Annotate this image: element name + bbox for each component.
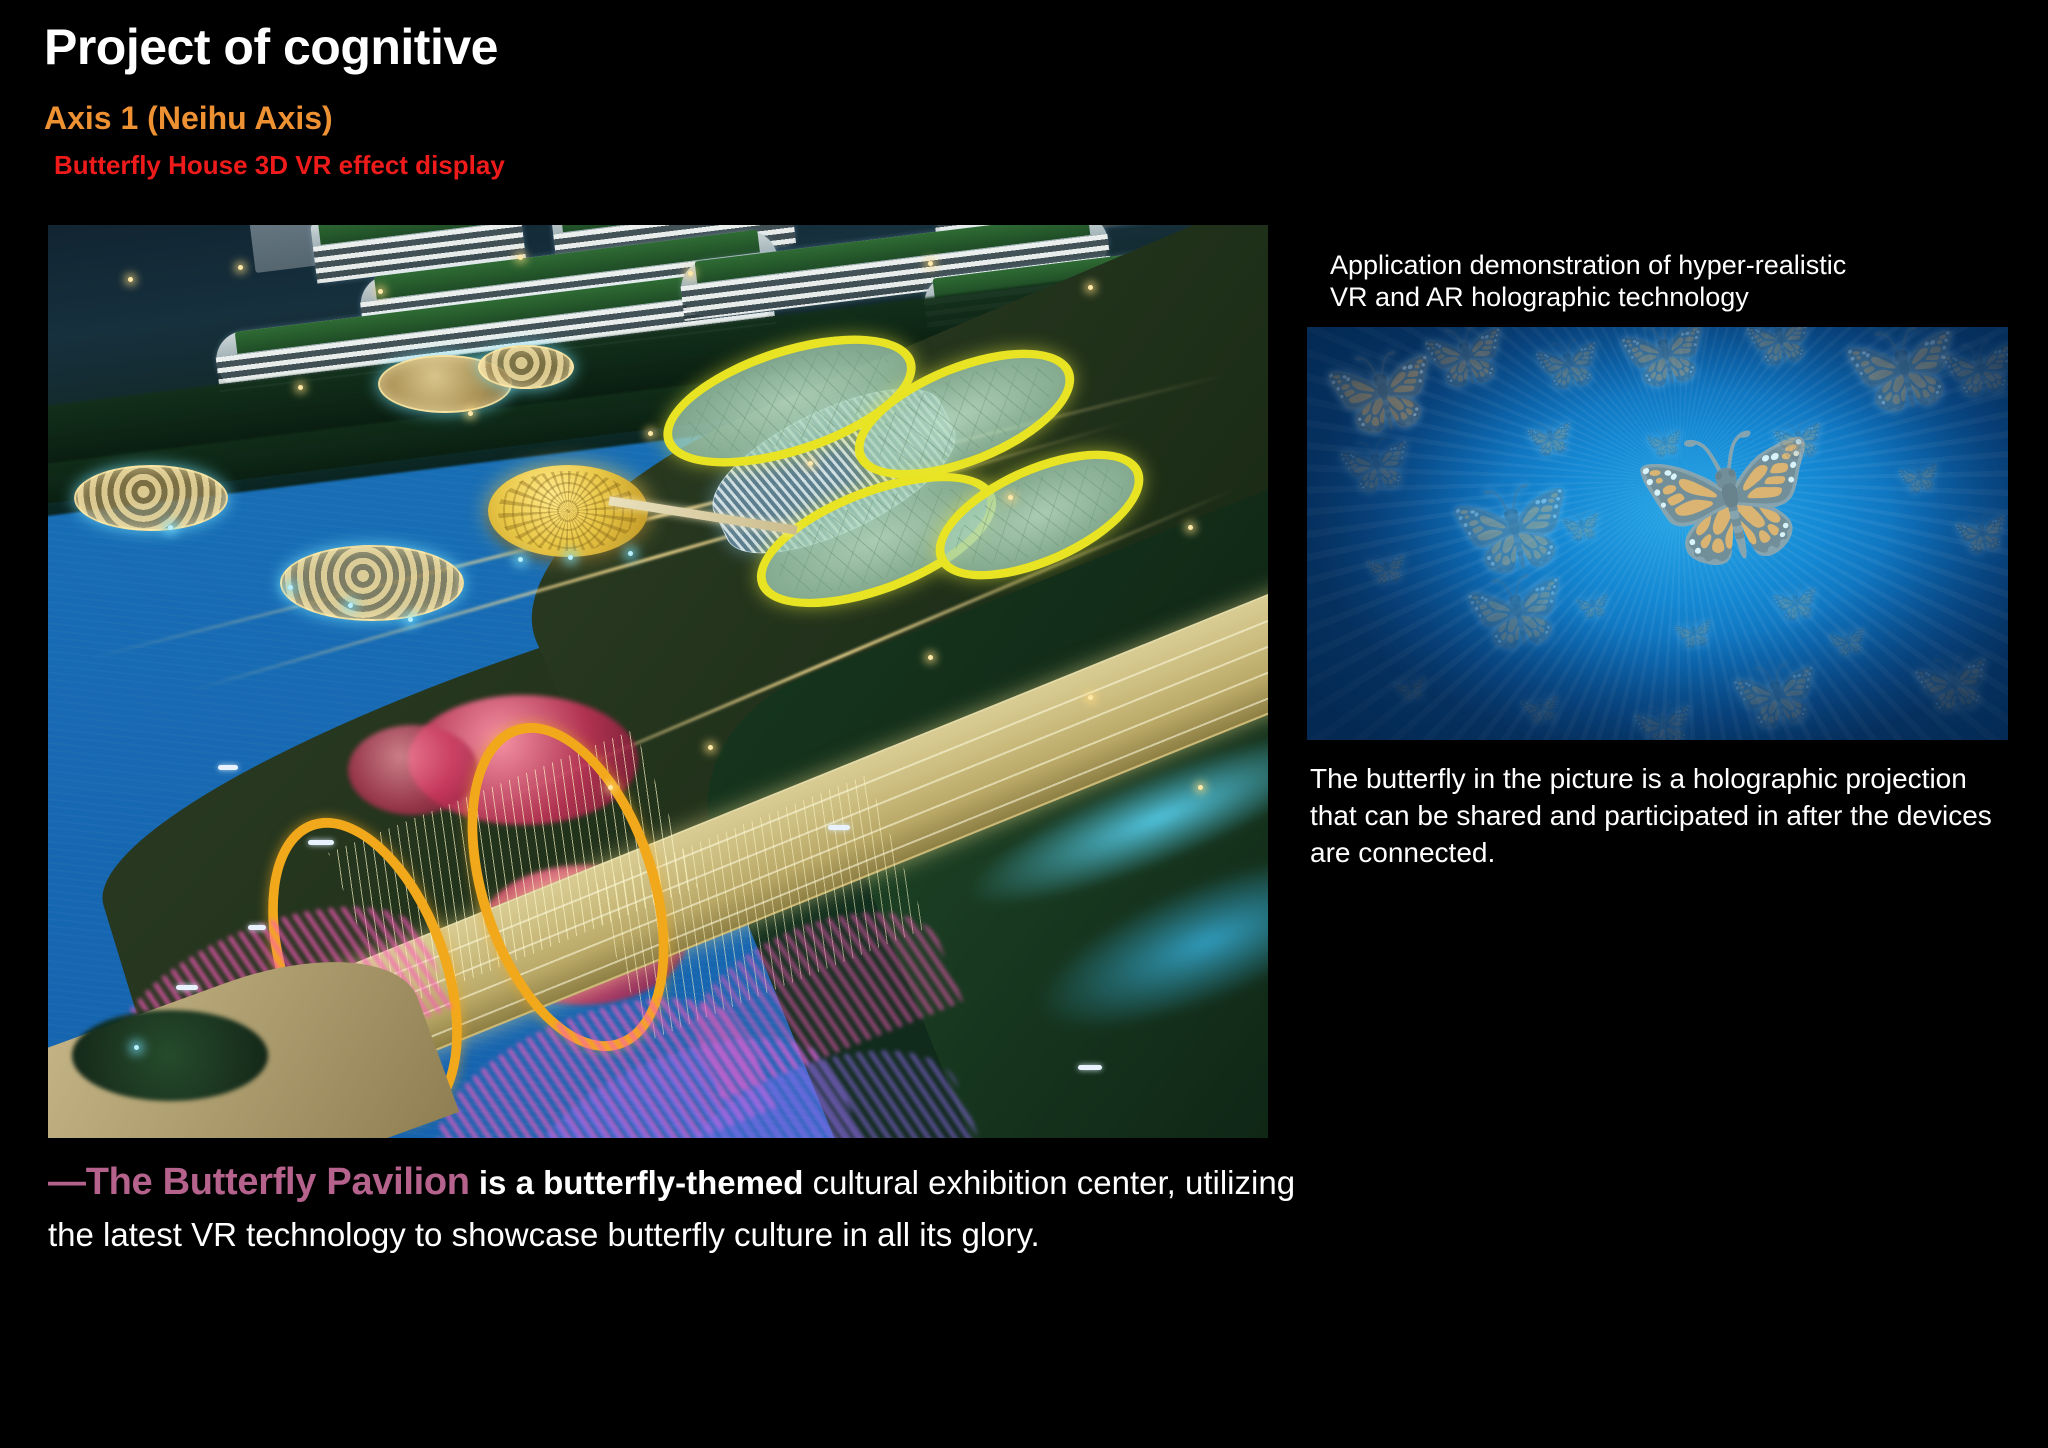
gold-dome-building <box>488 465 648 557</box>
holographic-butterfly-image: 🦋 🦋 🦋 🦋 🦋 🦋 🦋 🦋 🦋 🦋 🦋 🦋 🦋 🦋 🦋 🦋 🦋 🦋 🦋 🦋 … <box>1307 327 2008 740</box>
slide-canvas: Project of cognitive Axis 1 (Neihu Axis)… <box>0 0 2048 1448</box>
circular-plaza-4 <box>478 345 574 389</box>
bottom-caption: —The Butterfly Pavilion is a butterfly-t… <box>48 1155 1298 1259</box>
butterfly-pavilion-render-image <box>48 225 1268 1138</box>
boat <box>176 985 198 990</box>
circular-plaza-2 <box>280 545 464 621</box>
boat <box>1078 1065 1102 1070</box>
boat <box>828 825 850 830</box>
subtitle-axis: Axis 1 (Neihu Axis) <box>44 100 333 137</box>
section-label-vr-display: Butterfly House 3D VR effect display <box>54 150 505 181</box>
pavilion-label: —The Butterfly Pavilion <box>48 1161 470 1203</box>
boat <box>248 925 266 930</box>
boat <box>218 765 238 770</box>
pavilion-bold-text: is a butterfly-themed <box>470 1164 804 1201</box>
image-vignette <box>1307 327 2008 740</box>
right-panel-caption: The butterfly in the picture is a hologr… <box>1310 760 2010 872</box>
right-panel-header: Application demonstration of hyper-reali… <box>1330 250 1990 314</box>
circular-plaza-1 <box>74 465 228 531</box>
page-title: Project of cognitive <box>44 18 498 76</box>
land-layer <box>48 225 1268 1138</box>
boat <box>308 840 334 845</box>
